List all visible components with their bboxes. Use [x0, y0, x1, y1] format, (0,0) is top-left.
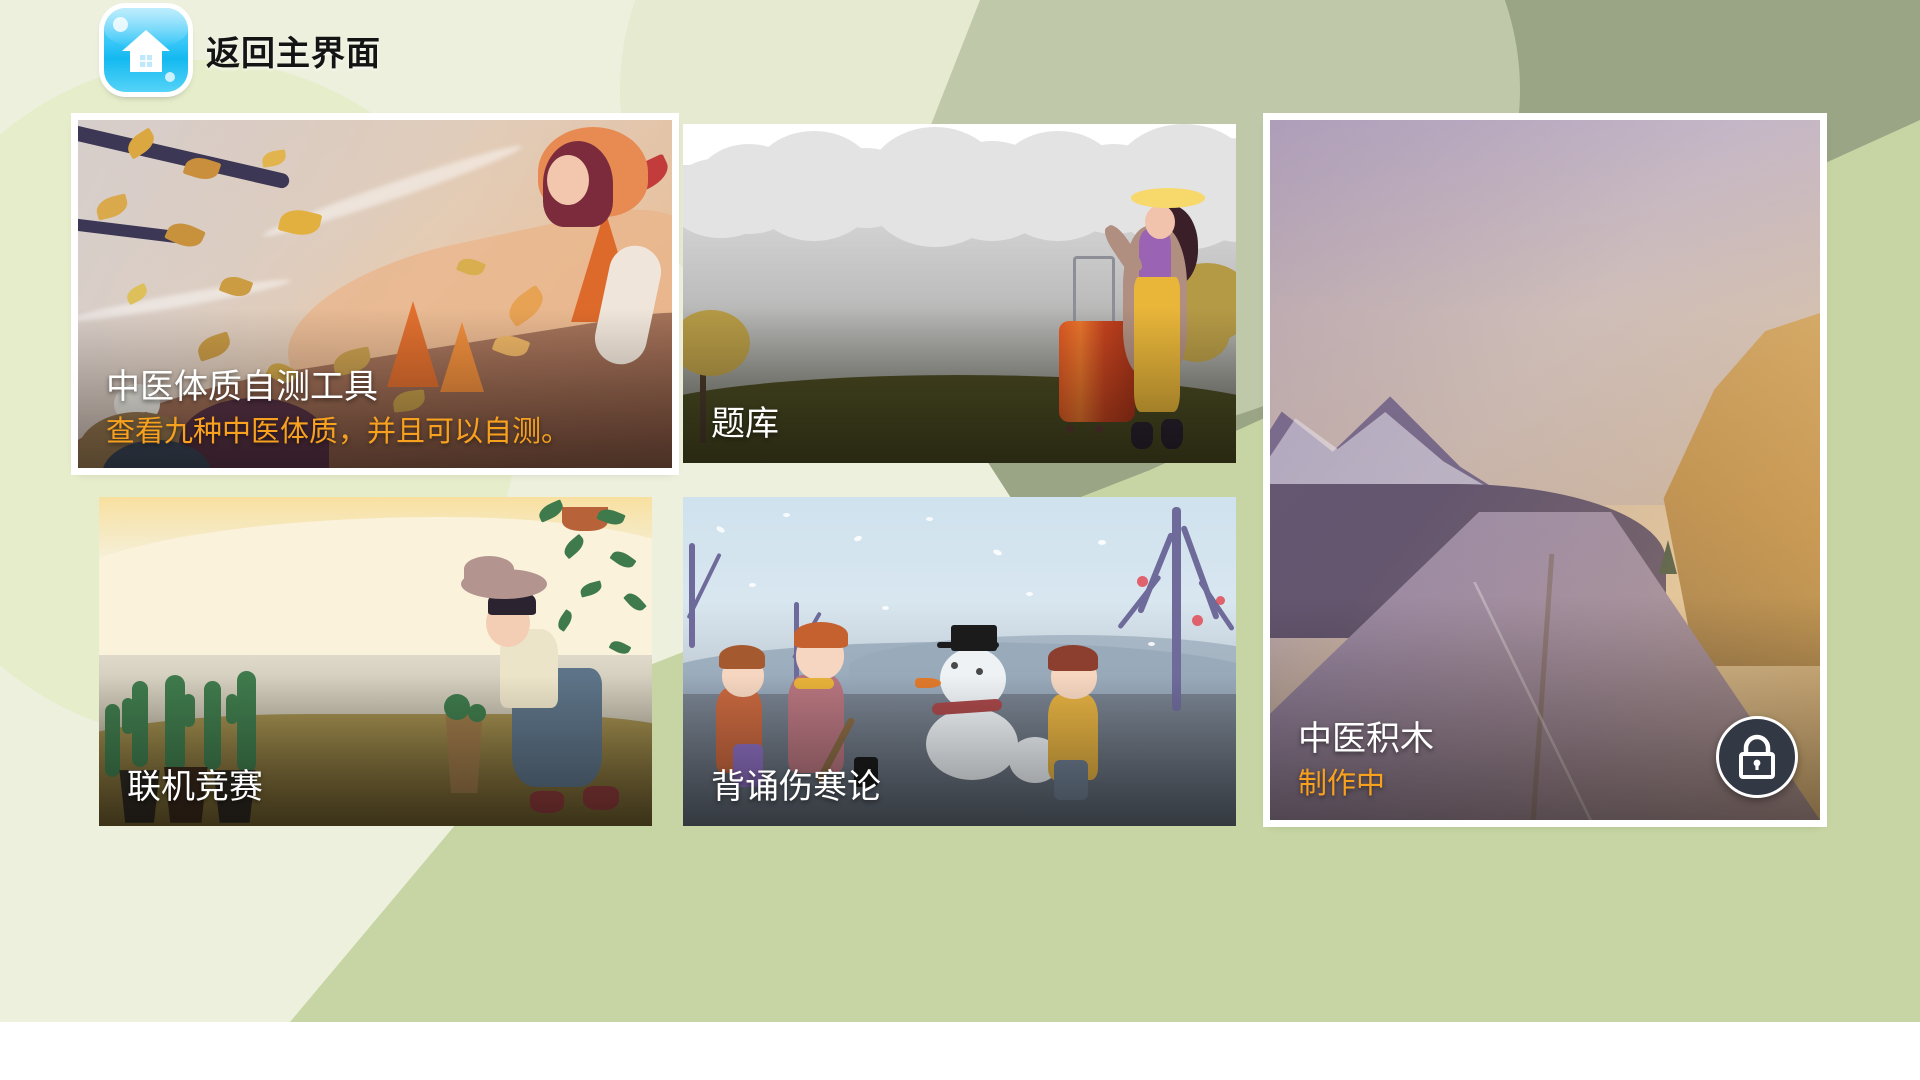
- home-icon[interactable]: [104, 8, 188, 92]
- card-question-bank[interactable]: 题库: [683, 124, 1236, 463]
- card1-labels: 中医体质自测工具 查看九种中医体质，并且可以自测。: [106, 367, 644, 450]
- back-to-home-button[interactable]: 返回主界面: [104, 8, 381, 92]
- card-recite-shanghanlun[interactable]: 背诵伤寒论: [683, 497, 1236, 826]
- card-tcm-building-blocks[interactable]: 中医积木 制作中: [1270, 120, 1820, 820]
- card5-labels: 背诵伤寒论: [711, 767, 1208, 808]
- app-root: 返回主界面: [0, 0, 1920, 1080]
- card5-title: 背诵伤寒论: [711, 767, 1208, 808]
- card2-title: 题库: [711, 404, 1208, 445]
- card4-title: 联机竞赛: [127, 767, 624, 808]
- card1-title: 中医体质自测工具: [106, 367, 644, 408]
- card1-subtitle: 查看九种中医体质，并且可以自测。: [106, 414, 644, 450]
- card-online-competition[interactable]: 联机竞赛: [99, 497, 652, 826]
- card4-labels: 联机竞赛: [127, 767, 624, 808]
- lock-icon: [1716, 716, 1798, 798]
- home-glyph: [120, 27, 172, 75]
- card2-labels: 题库: [711, 404, 1208, 445]
- card3-artwork: [1270, 120, 1820, 820]
- back-to-home-label: 返回主界面: [206, 26, 381, 75]
- card-tcm-constitution-test[interactable]: 中医体质自测工具 查看九种中医体质，并且可以自测。: [78, 120, 672, 468]
- background-white-strip: [0, 1022, 1920, 1080]
